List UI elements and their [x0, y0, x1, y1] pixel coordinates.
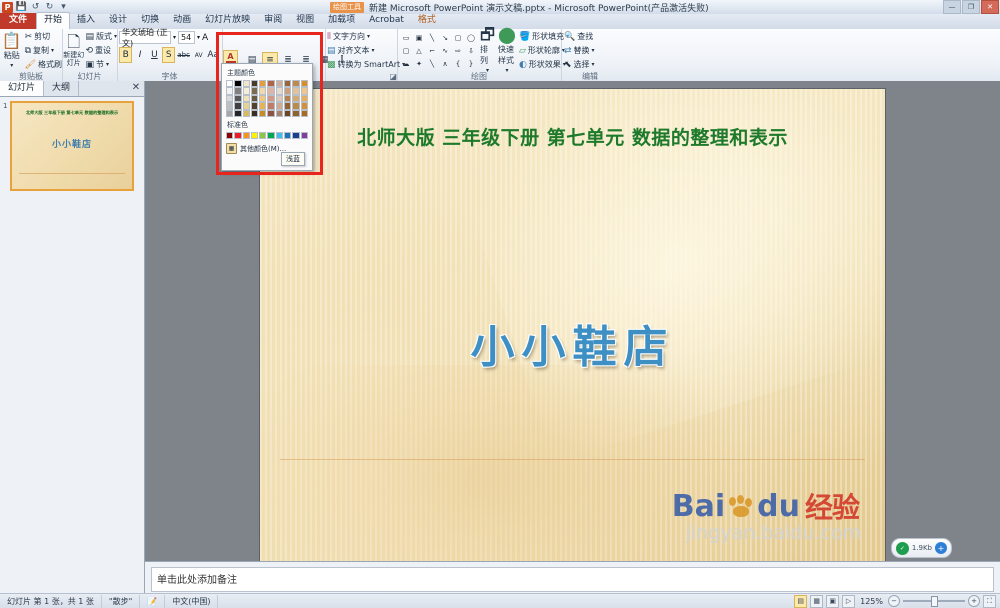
font-size-input[interactable]: 54	[178, 31, 195, 44]
chevron-down-icon[interactable]: ▾	[372, 47, 375, 54]
convert-smartart-button[interactable]: ▩ 转换为 SmartArt ▾	[327, 58, 405, 71]
theme-tint-0-swatch-5[interactable]	[267, 87, 274, 94]
notes-placeholder[interactable]: 单击此处添加备注	[151, 567, 994, 592]
reset-button[interactable]: ⟲ 重设	[85, 44, 117, 57]
watermark-url: jingyan.baidu.com	[686, 522, 861, 544]
standard-colors-label: 标准色	[227, 120, 308, 130]
theme-tint-3-swatch-6[interactable]	[276, 110, 283, 117]
shape-fill-label: 形状填充	[532, 31, 564, 42]
zoom-slider-knob[interactable]	[931, 596, 938, 607]
format-painter-label: 格式刷	[38, 59, 62, 70]
shape-arrow-icon[interactable]: ↘	[439, 32, 451, 44]
bold-button[interactable]: B	[119, 47, 132, 63]
select-icon: ⬉	[564, 60, 572, 70]
reading-view-button[interactable]: ▣	[826, 595, 839, 608]
select-button[interactable]: ⬉ 选择 ▾	[564, 58, 595, 71]
shape-roundrect-icon[interactable]: ▢	[400, 45, 412, 57]
language-label[interactable]: 中文(中国)	[165, 595, 218, 608]
system-tray-popup[interactable]: ✓ 1.9Kb +	[891, 538, 952, 558]
standard-swatch-4[interactable]	[259, 132, 266, 139]
chevron-down-icon[interactable]: ▾	[367, 33, 370, 40]
tab-acrobat[interactable]: Acrobat	[362, 13, 411, 29]
theme-tint-0-swatch-9[interactable]	[301, 87, 308, 94]
security-shield-icon: ✓	[896, 542, 909, 555]
context-tab-tag: 绘图工具	[330, 2, 364, 13]
arrange-button[interactable]: 🗗 排列 ▾	[480, 27, 495, 74]
zoom-level-label[interactable]: 125%	[858, 597, 885, 606]
text-direction-button[interactable]: ⦀ 文字方向 ▾	[327, 30, 405, 43]
replace-icon: ⇄	[564, 46, 572, 56]
slideshow-button[interactable]: ▷	[842, 595, 855, 608]
theme-tint-2-swatch-1[interactable]	[234, 102, 241, 109]
shape-connector-icon[interactable]: ╲	[426, 58, 438, 70]
font-color-letter-a: A	[227, 53, 233, 61]
theme-tint-3-swatch-2[interactable]	[243, 110, 250, 117]
theme-tint-1-swatch-2[interactable]	[243, 95, 250, 102]
theme-tint-0-swatch-7[interactable]	[284, 87, 291, 94]
theme-tint-3-swatch-3[interactable]	[251, 110, 258, 117]
copy-label: 复制	[33, 45, 49, 56]
shape-triangle-icon[interactable]: △	[413, 45, 425, 57]
quick-styles-label: 快速样式	[498, 44, 516, 66]
tab-file[interactable]: 文件	[0, 13, 36, 29]
close-button[interactable]: ✕	[981, 0, 999, 14]
shape-brace-right-icon[interactable]: }	[465, 58, 477, 70]
change-case-button[interactable]: Aa	[206, 47, 220, 63]
character-spacing-button[interactable]: AV	[192, 47, 205, 63]
theme-tint-1-swatch-3[interactable]	[251, 95, 258, 102]
more-colors-label: 其他颜色(M)...	[240, 144, 286, 154]
standard-swatch-8[interactable]	[292, 132, 299, 139]
convert-smartart-label: 转换为 SmartArt	[338, 59, 401, 70]
theme-tint-1-swatch-0[interactable]	[226, 95, 233, 102]
status-bar: 幻灯片 第 1 张，共 1 张 "散步" 📝 中文(中国) ▤ ▦ ▣ ▷ 12…	[0, 593, 1000, 608]
standard-swatch-7[interactable]	[284, 132, 291, 139]
color-tooltip: 浅蓝	[281, 152, 305, 166]
tab-outline[interactable]: 大纲	[44, 81, 79, 96]
group-label-editing: 编辑	[561, 72, 619, 81]
fit-to-window-button[interactable]: ⛶	[983, 595, 996, 608]
tab-animations[interactable]: 动画	[166, 13, 198, 29]
arrange-icon: 🗗	[480, 27, 495, 43]
shape-picture-icon[interactable]: ▣	[413, 32, 425, 44]
quick-styles-button[interactable]: ⬤ 快速样式 ▾	[498, 27, 516, 74]
theme-tint-1-swatch-6[interactable]	[276, 95, 283, 102]
slide-sorter-button[interactable]: ▦	[810, 595, 823, 608]
copy-icon: ⧉	[25, 46, 31, 56]
thumbnail-main-text: 小小鞋店	[12, 137, 132, 150]
tab-view[interactable]: 视图	[289, 13, 321, 29]
palette-icon: ▦	[226, 143, 237, 154]
font-color-dropdown[interactable]: 主题颜色 标准色 ▦ 其他颜色(M)... 浅蓝	[221, 63, 313, 171]
tab-home[interactable]: 开始	[36, 12, 70, 29]
theme-tint-2-swatch-0[interactable]	[226, 102, 233, 109]
theme-base-swatch-9[interactable]	[301, 80, 308, 87]
close-panel-icon[interactable]: ✕	[128, 81, 144, 96]
section-label: 节	[96, 59, 104, 70]
group-font: 华文琥珀 (正文) ▾ 54 ▾ A B I U S abc AV Aa 字体	[117, 29, 223, 81]
standard-swatch-3[interactable]	[251, 132, 258, 139]
slide-thumbnail-panel: 幻灯片 大纲 ✕ 1 北师大版 三年级下册 第七单元 数据的整理和表示 小小鞋店	[0, 81, 145, 594]
shape-star-icon[interactable]: ✦	[413, 58, 425, 70]
tab-slides[interactable]: 幻灯片	[0, 81, 44, 96]
standard-swatch-5[interactable]	[267, 132, 274, 139]
shape-elbow-icon[interactable]: ⌐	[426, 45, 438, 57]
shape-outline-icon: ▱	[519, 46, 526, 56]
group-clipboard: 📋 粘贴 ▾ ✂ 剪切 ⧉ 复制 ▾ 🖌	[0, 29, 63, 81]
tab-insert[interactable]: 插入	[70, 13, 102, 29]
tab-format[interactable]: 格式	[411, 13, 443, 29]
redo-icon[interactable]: ↻	[44, 2, 55, 13]
slide-count-label: 幻灯片 第 1 张，共 1 张	[0, 595, 102, 608]
shape-arrow-right-icon[interactable]: ⇨	[452, 45, 464, 57]
theme-base-swatch-4[interactable]	[259, 80, 266, 87]
theme-colors-label: 主题颜色	[227, 68, 308, 78]
shape-curve-icon[interactable]: ∿	[439, 45, 451, 57]
paragraph-dialog-launcher[interactable]: ◪	[325, 72, 401, 81]
watermark-jingyan: 经验	[805, 486, 859, 526]
theme-tint-2-swatch-3[interactable]	[251, 102, 258, 109]
cut-button[interactable]: ✂ 剪切	[25, 30, 62, 43]
theme-name-label[interactable]: "散步"	[102, 595, 140, 608]
theme-tint-0-swatch-1[interactable]	[234, 87, 241, 94]
group-label-font: 字体	[117, 72, 222, 81]
layout-label: 版式	[96, 31, 112, 42]
shape-cloud-icon[interactable]: ☁	[400, 58, 412, 70]
theme-tint-3-swatch-7[interactable]	[284, 110, 291, 117]
group-slides: 🗋 新建幻灯片 ▤ 版式 ▾ ⟲ 重设 ▣ 节	[62, 29, 118, 81]
theme-tint-0-swatch-0[interactable]	[226, 87, 233, 94]
shape-arrow-down-icon[interactable]: ⇩	[465, 45, 477, 57]
theme-tint-2-swatch-9[interactable]	[301, 102, 308, 109]
tab-slideshow[interactable]: 幻灯片放映	[198, 13, 257, 29]
shape-outline-label: 形状轮廓	[528, 45, 560, 56]
zoom-out-button[interactable]: −	[888, 595, 900, 607]
shape-effects-icon: ◐	[519, 60, 527, 70]
theme-tint-3-swatch-0[interactable]	[226, 110, 233, 117]
replace-button[interactable]: ⇄ 替换 ▾	[564, 44, 595, 57]
theme-tint-3-swatch-8[interactable]	[292, 110, 299, 117]
theme-tint-2-swatch-6[interactable]	[276, 102, 283, 109]
replace-label: 替换	[574, 45, 590, 56]
normal-view-button[interactable]: ▤	[794, 595, 807, 608]
theme-tint-0-swatch-8[interactable]	[292, 87, 299, 94]
text-direction-icon: ⦀	[327, 32, 331, 42]
cut-label: 剪切	[34, 31, 50, 42]
theme-tint-2-swatch-7[interactable]	[284, 102, 291, 109]
paste-label: 粘贴	[4, 50, 20, 61]
theme-tint-0-swatch-3[interactable]	[251, 87, 258, 94]
arrange-label: 排列	[480, 44, 495, 66]
group-label-drawing: 绘图	[397, 72, 561, 81]
paste-button[interactable]: 📋 粘贴 ▾	[0, 30, 24, 71]
theme-tint-3-swatch-4[interactable]	[259, 110, 266, 117]
select-label: 选择	[574, 59, 590, 70]
search-icon: 🔍	[564, 32, 575, 42]
chevron-down-icon[interactable]: ▾	[106, 61, 109, 68]
standard-swatch-0[interactable]	[226, 132, 233, 139]
zoom-slider[interactable]	[903, 596, 965, 607]
paw-icon	[728, 495, 754, 517]
font-name-input[interactable]: 华文琥珀 (正文)	[119, 31, 171, 44]
theme-tint-1-swatch-4[interactable]	[259, 95, 266, 102]
theme-tint-3-swatch-5[interactable]	[267, 110, 274, 117]
tray-add-icon[interactable]: +	[935, 542, 947, 554]
thumbnail-wrapper: 1 北师大版 三年级下册 第七单元 数据的整理和表示 小小鞋店	[0, 97, 144, 191]
slide-background-swirl-2	[260, 365, 729, 565]
grow-font-icon[interactable]: A	[202, 33, 208, 43]
theme-tint-3-swatch-9[interactable]	[301, 110, 308, 117]
theme-base-swatch-0[interactable]	[226, 80, 233, 87]
reset-icon: ⟲	[85, 46, 93, 56]
minimize-button[interactable]: —	[943, 0, 961, 14]
section-button[interactable]: ▣ 节 ▾	[85, 58, 117, 71]
shape-brace-left-icon[interactable]: {	[452, 58, 464, 70]
theme-tint-3-row[interactable]	[226, 110, 308, 117]
slide-main-text[interactable]: 小小鞋店	[260, 311, 885, 375]
watermark-du: du	[757, 489, 800, 524]
chevron-down-icon[interactable]: ▾	[10, 62, 13, 69]
group-drawing: ▭ ▣ ╲ ↘ ▢ ◯ ▢ △ ⌐ ∿ ⇨ ⇩	[397, 29, 562, 81]
smartart-icon: ▩	[327, 60, 336, 70]
theme-tint-2-swatch-4[interactable]	[259, 102, 266, 109]
ribbon: 📋 粘贴 ▾ ✂ 剪切 ⧉ 复制 ▾ 🖌	[0, 29, 1000, 82]
text-direction-label: 文字方向	[333, 31, 365, 42]
layout-icon: ▤	[85, 32, 94, 42]
shape-effects-label: 形状效果	[529, 59, 561, 70]
new-slide-icon: 🗋	[67, 34, 80, 50]
theme-base-swatch-1[interactable]	[234, 80, 241, 87]
shape-line-icon[interactable]: ╲	[426, 32, 438, 44]
chevron-down-icon[interactable]: ▾	[173, 34, 176, 41]
tray-speed-label: 1.9Kb	[912, 544, 932, 552]
theme-tint-0-swatch-6[interactable]	[276, 87, 283, 94]
thumbnail-title: 北师大版 三年级下册 第七单元 数据的整理和表示	[12, 110, 132, 116]
slide-canvas[interactable]: 北师大版 三年级下册 第七单元 数据的整理和表示 小小鞋店 Bai du 经验 …	[260, 89, 885, 564]
format-painter-button[interactable]: 🖌 格式刷	[25, 58, 62, 71]
status-right-controls[interactable]: ▤ ▦ ▣ ▷ 125% − + ⛶	[794, 595, 1000, 608]
theme-base-swatch-7[interactable]	[284, 80, 291, 87]
reset-label: 重设	[95, 45, 111, 56]
shape-rect-icon[interactable]: ▢	[452, 32, 464, 44]
group-editing: 🔍 查找 ⇄ 替换 ▾ ⬉ 选择 ▾ 编辑	[561, 29, 619, 81]
standard-swatch-9[interactable]	[301, 132, 308, 139]
theme-base-swatch-5[interactable]	[267, 80, 274, 87]
slide-thumbnail-1[interactable]: 北师大版 三年级下册 第七单元 数据的整理和表示 小小鞋店	[10, 101, 134, 191]
slide-number-label: 1	[3, 102, 7, 110]
shadow-button[interactable]: S	[162, 47, 175, 63]
watermark-bai: Bai	[672, 489, 725, 524]
group-label-clipboard: 剪贴板	[0, 72, 62, 81]
theme-base-row[interactable]	[226, 80, 308, 87]
quick-style-icon: ⬤	[498, 27, 516, 43]
strikethrough-button[interactable]: abc	[176, 47, 191, 63]
standard-color-row[interactable]	[226, 132, 308, 139]
new-slide-button[interactable]: 🗋 新建幻灯片	[62, 30, 85, 71]
restore-button[interactable]: ❐	[962, 0, 980, 14]
save-icon[interactable]: 💾	[16, 2, 27, 13]
theme-tint-0-swatch-2[interactable]	[243, 87, 250, 94]
shapes-gallery[interactable]: ▭ ▣ ╲ ↘ ▢ ◯ ▢ △ ⌐ ∿ ⇨ ⇩	[400, 32, 477, 70]
find-label: 查找	[577, 31, 593, 42]
theme-base-swatch-3[interactable]	[251, 80, 258, 87]
theme-tint-2-swatch-8[interactable]	[292, 102, 299, 109]
align-text-label: 对齐文本	[338, 45, 370, 56]
align-text-button[interactable]: ▤ 对齐文本 ▾	[327, 44, 405, 57]
notes-pane: 单击此处添加备注	[145, 561, 1000, 594]
shape-chevron-icon[interactable]: ∧	[439, 58, 451, 70]
tab-addins[interactable]: 加载项	[321, 13, 362, 29]
section-icon: ▣	[85, 60, 94, 70]
panel-tabs[interactable]: 幻灯片 大纲 ✕	[0, 81, 144, 97]
chevron-down-icon[interactable]: ▾	[197, 34, 200, 41]
copy-button[interactable]: ⧉ 复制 ▾	[25, 44, 62, 57]
theme-tint-2-row[interactable]	[226, 102, 308, 109]
theme-base-swatch-8[interactable]	[292, 80, 299, 87]
find-button[interactable]: 🔍 查找	[564, 30, 595, 43]
zoom-in-button[interactable]: +	[968, 595, 980, 607]
theme-tint-1-swatch-9[interactable]	[301, 95, 308, 102]
align-text-icon: ▤	[327, 46, 336, 56]
standard-swatch-6[interactable]	[276, 132, 283, 139]
tab-review[interactable]: 审阅	[257, 13, 289, 29]
theme-base-swatch-2[interactable]	[243, 80, 250, 87]
standard-swatch-1[interactable]	[234, 132, 241, 139]
shape-oval-icon[interactable]: ◯	[465, 32, 477, 44]
new-slide-label: 新建幻灯片	[62, 51, 85, 67]
paintbrush-icon: 🖌	[25, 60, 36, 70]
layout-button[interactable]: ▤ 版式 ▾	[85, 30, 117, 43]
thumbnail-divider	[19, 173, 125, 174]
theme-tint-0-row[interactable]	[226, 87, 308, 94]
baidu-watermark: Bai du 经验	[672, 486, 859, 526]
undo-icon[interactable]: ↺	[30, 2, 41, 13]
theme-tint-1-swatch-8[interactable]	[292, 95, 299, 102]
window-buttons[interactable]: — ❐ ✕	[943, 0, 999, 14]
theme-tint-3-swatch-1[interactable]	[234, 110, 241, 117]
chevron-down-icon[interactable]: ▾	[592, 47, 595, 54]
theme-tint-2-swatch-2[interactable]	[243, 102, 250, 109]
clipboard-icon: 📋	[2, 33, 22, 49]
theme-color-grid[interactable]	[226, 80, 308, 117]
theme-base-swatch-6[interactable]	[276, 80, 283, 87]
theme-tint-1-swatch-5[interactable]	[267, 95, 274, 102]
group-text-direction: ⦀ 文字方向 ▾ ▤ 对齐文本 ▾ ▩ 转换为 SmartArt ▾	[325, 29, 398, 81]
chevron-down-icon[interactable]: ▾	[592, 61, 595, 68]
powerpoint-window: P 💾 ↺ ↻ ▾ 绘图工具 新建 Microsoft PowerPoint 演…	[0, 0, 1000, 608]
theme-tint-1-swatch-1[interactable]	[234, 95, 241, 102]
scissors-icon: ✂	[25, 32, 33, 42]
theme-tint-1-swatch-7[interactable]	[284, 95, 291, 102]
slide-divider-line	[280, 459, 865, 460]
shape-textbox-icon[interactable]: ▭	[400, 32, 412, 44]
standard-swatch-2[interactable]	[243, 132, 250, 139]
group-label-slides: 幻灯片	[62, 72, 117, 81]
theme-tint-1-row[interactable]	[226, 95, 308, 102]
slide-title-text[interactable]: 北师大版 三年级下册 第七单元 数据的整理和表示	[260, 123, 885, 150]
spellcheck-icon[interactable]: 📝	[140, 595, 165, 608]
customize-qat-icon[interactable]: ▾	[58, 2, 69, 13]
theme-tint-0-swatch-4[interactable]	[259, 87, 266, 94]
powerpoint-logo-icon: P	[2, 2, 13, 13]
chevron-down-icon[interactable]: ▾	[51, 47, 54, 54]
underline-button[interactable]: U	[148, 47, 161, 63]
italic-button[interactable]: I	[133, 47, 146, 63]
shape-fill-icon: 🪣	[519, 32, 530, 42]
theme-tint-2-swatch-5[interactable]	[267, 102, 274, 109]
